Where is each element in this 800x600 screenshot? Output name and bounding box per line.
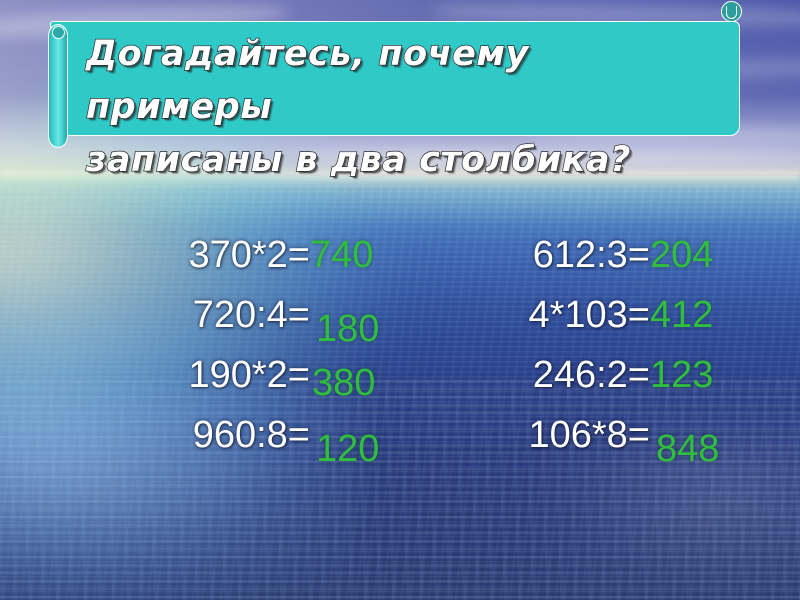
example-row: 370*2= 740 <box>60 232 420 292</box>
expression-text: 960:8= <box>193 412 310 458</box>
example-row: 246:2= 123 <box>400 352 760 412</box>
slide-canvas: Догадайтесь, почему примеры записаны в д… <box>0 0 800 600</box>
expression-text: 370*2= <box>188 232 310 278</box>
answer-value: 848 <box>656 426 766 472</box>
expression-text: 612:3= <box>533 232 650 278</box>
answer-value: 123 <box>650 352 760 398</box>
expression-text: 106*8= <box>528 412 650 458</box>
right-column: 612:3= 204 4*103= 412 246:2= 123 106*8= … <box>400 232 760 472</box>
expression-text: 190*2= <box>188 352 310 398</box>
example-row: 720:4= 180 <box>60 292 420 352</box>
expression-text: 4*103= <box>528 292 650 338</box>
answer-value: 204 <box>650 232 760 278</box>
example-row: 960:8= 120 <box>60 412 420 472</box>
expression-text: 720:4= <box>193 292 310 338</box>
example-row: 612:3= 204 <box>400 232 760 292</box>
expression-text: 246:2= <box>533 352 650 398</box>
example-row: 4*103= 412 <box>400 292 760 352</box>
example-row: 190*2= 380 <box>60 352 420 412</box>
left-column: 370*2= 740 720:4= 180 190*2= 380 960:8= … <box>60 232 420 472</box>
examples-area: 370*2= 740 720:4= 180 190*2= 380 960:8= … <box>0 0 800 600</box>
example-row: 106*8= 848 <box>400 412 760 472</box>
answer-value: 412 <box>650 292 760 338</box>
